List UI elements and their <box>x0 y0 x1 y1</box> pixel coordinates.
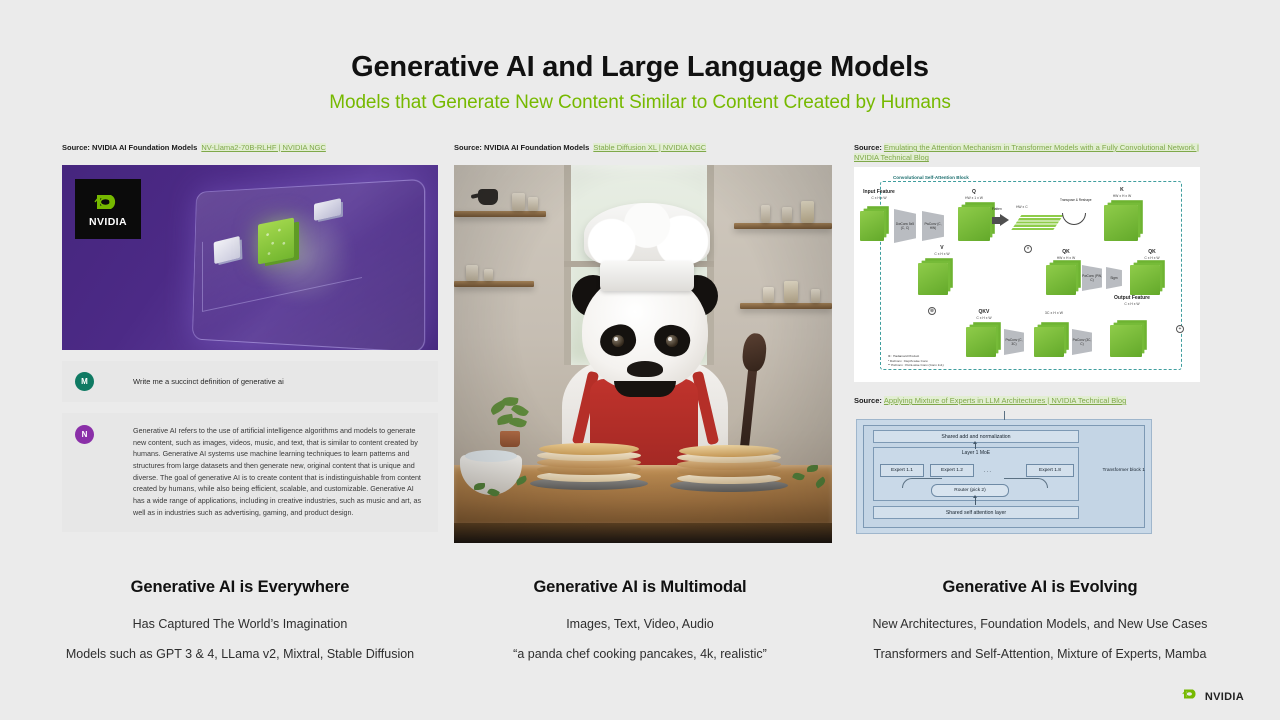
plant-leaf <box>509 415 527 429</box>
tensor-q <box>958 207 990 241</box>
node-label-input-feature: Input Feature C x H x W <box>854 189 906 201</box>
flatten-arrow-tail <box>992 217 1000 224</box>
jar-2 <box>528 197 538 211</box>
diagram-legend: ⊗ : Hadamard Product * DwConv : Depth-wi… <box>888 354 944 368</box>
jar-7 <box>761 205 770 223</box>
arrow-attention-to-moe <box>975 498 976 505</box>
caption-line-1: Images, Text, Video, Audio <box>440 617 840 631</box>
tensor-input <box>860 211 884 241</box>
router-node: Router (pick 2) <box>931 484 1009 497</box>
hero-model-cube-icon <box>258 218 294 265</box>
potted-plant <box>488 397 534 441</box>
caption-title: Generative AI is Evolving <box>840 578 1240 597</box>
expert-1-2: Expert 1.2 <box>930 464 974 477</box>
chef-hat-band <box>600 261 694 291</box>
router-link-left <box>902 478 942 488</box>
source-link[interactable]: NV-Llama2-70B-RLHF | NVIDIA NGC <box>201 143 325 152</box>
annotation-flatten: Flatten <box>992 207 1002 211</box>
jar-9 <box>763 287 774 303</box>
source-link[interactable]: Applying Mixture of Experts in LLM Archi… <box>884 396 1126 405</box>
pancake-stack-right <box>670 445 790 491</box>
router-link-right <box>1004 478 1048 488</box>
tensor-k <box>1104 205 1138 241</box>
source-attribution-1: Source: NVIDIA AI Foundation Models NV-L… <box>62 143 434 161</box>
legend-item: ** PwConv : Point-wise Conv (Conv 1x1) <box>888 363 944 368</box>
tensor-output <box>1110 325 1142 357</box>
nvidia-playground-hero-image: NVIDIA <box>62 165 438 350</box>
mixture-of-experts-diagram: Shared add and normalization Layer 1 MoE… <box>856 419 1152 534</box>
slide-header: Generative AI and Large Language Models … <box>0 0 1280 114</box>
caption-line-1: New Architectures, Foundation Models, an… <box>840 617 1240 631</box>
node-label-3c: 3C x H x W <box>1032 311 1076 315</box>
moe-layer-box: Layer 1 MoE Expert 1.1 Expert 1.2 . . . … <box>873 447 1079 501</box>
op-pwconv-2: PwConv (PW, C) <box>1082 265 1102 291</box>
tensor-v <box>918 263 948 295</box>
expert-1-8: Expert 1.8 <box>1026 464 1074 477</box>
source-attribution-4: Source:Applying Mixture of Experts in LL… <box>854 396 1218 414</box>
attention-mechanism-diagram: Convolutional Self-Attention Block Input… <box>854 167 1200 382</box>
source-label: Source: <box>854 396 882 405</box>
moe-top-connector <box>1004 411 1005 420</box>
caption-title: Generative AI is Everywhere <box>40 578 440 597</box>
caption-everywhere: Generative AI is Everywhere Has Captured… <box>40 578 440 661</box>
column-multimodal: Source: NVIDIA AI Foundation Models Stab… <box>444 143 836 543</box>
annotation-transpose: Transpose & Reshape <box>1060 199 1092 203</box>
panda-nose <box>627 361 663 377</box>
source-label: Source: NVIDIA AI Foundation Models <box>62 143 197 152</box>
node-label-qkv: QKV C x H x W <box>962 309 1006 321</box>
source-attribution-3: Source:Emulating the Attention Mechanism… <box>854 143 1218 163</box>
caption-line-2: Transformers and Self-Attention, Mixture… <box>840 647 1240 661</box>
pancake-stack-left <box>530 441 650 489</box>
chat-answer-text: Generative AI refers to the use of artif… <box>105 425 425 518</box>
footer-nvidia-logo: NVIDIA <box>1181 687 1244 706</box>
avatar-user: M <box>75 372 94 391</box>
op-pwconv-4: PwConv (3C, C) <box>1072 329 1092 355</box>
chef-hat <box>584 203 710 267</box>
tensor-qk-1 <box>1046 265 1076 295</box>
flatten-arrow <box>1000 214 1009 226</box>
node-label-k: K HW x H x W <box>1100 187 1144 199</box>
op-dwconv: DwConv 5x5 (C, C) <box>894 209 916 243</box>
chat-prompt-text: Write me a succinct definition of genera… <box>105 378 284 386</box>
caption-evolving: Generative AI is Evolving New Architectu… <box>840 578 1240 661</box>
op-pwconv-1: PwConv (C, HW) <box>922 211 944 241</box>
tensor-qk-2 <box>1130 265 1160 295</box>
expert-1-1: Expert 1.1 <box>880 464 924 477</box>
flower-pot <box>500 431 520 447</box>
panda-eye-right <box>666 335 678 347</box>
moe-layer-label: Layer 1 MoE <box>874 450 1078 456</box>
caption-line-2: “a panda chef cooking pancakes, 4k, real… <box>440 647 840 661</box>
caption-multimodal: Generative AI is Multimodal Images, Text… <box>440 578 840 661</box>
nvidia-wordmark: NVIDIA <box>89 216 127 228</box>
node-label-q: Q HW x 1 x W <box>952 189 996 201</box>
source-attribution-2: Source: NVIDIA AI Foundation Models Stab… <box>454 143 826 161</box>
node-label-qk-1: QK HW x H x W <box>1044 249 1088 261</box>
op-pwconv-3: PwConv (C, 3C) <box>1004 329 1024 355</box>
column-everywhere: Source: NVIDIA AI Foundation Models NV-L… <box>52 143 444 543</box>
source-link[interactable]: Emulating the Attention Mechanism in Tra… <box>854 143 1199 162</box>
jar-10 <box>811 289 820 303</box>
source-label: Source: NVIDIA AI Foundation Models <box>454 143 589 152</box>
plant-leaf <box>511 402 529 419</box>
panda-eye-left <box>612 335 624 347</box>
source-label: Source: <box>854 143 882 152</box>
transformer-block-label: Transformer block 1 <box>1102 468 1144 473</box>
jar-5 <box>801 201 814 223</box>
panda-chef-generated-image <box>454 165 832 543</box>
tensor-qkv <box>966 327 996 357</box>
caption-title: Generative AI is Multimodal <box>440 578 840 597</box>
tensor-3c <box>1034 327 1064 357</box>
counter-shadow <box>454 523 832 543</box>
add-operator: + <box>1176 325 1184 333</box>
chat-answer-row: N Generative AI refers to the use of art… <box>62 413 438 532</box>
shared-self-attention-bar: Shared self attention layer <box>873 506 1079 519</box>
node-label-flatten-shape: HW x C <box>1016 205 1028 209</box>
node-label-qk-2: QK C x H x W <box>1130 249 1174 261</box>
nvidia-eye-icon <box>93 191 123 213</box>
source-link[interactable]: Stable Diffusion XL | NVIDIA NGC <box>593 143 706 152</box>
panda-muzzle-shadow <box>614 381 676 397</box>
nvidia-eye-icon <box>1181 687 1201 706</box>
nvidia-logo-badge: NVIDIA <box>75 179 141 239</box>
avatar-assistant: N <box>75 425 94 444</box>
kettle-icon <box>478 189 498 205</box>
caption-line-2: Models such as GPT 3 & 4, LLama v2, Mixt… <box>40 647 440 661</box>
shelf-right-upper <box>734 223 832 229</box>
column-evolving: Source:Emulating the Attention Mechanism… <box>836 143 1228 543</box>
jar-3 <box>466 265 478 281</box>
diagram-title: Convolutional Self-Attention Block <box>890 175 972 180</box>
jar-1 <box>512 193 525 211</box>
shelf-left-lower <box>454 281 534 287</box>
shelf-right-lower <box>740 303 832 309</box>
chat-prompt-row: M Write me a succinct definition of gene… <box>62 361 438 402</box>
pancake-top <box>539 443 639 455</box>
jar-8 <box>784 281 798 303</box>
shelf-left-upper <box>454 211 546 217</box>
captions-row: Generative AI is Everywhere Has Captured… <box>0 578 1280 661</box>
experts-ellipsis: . . . <box>984 468 991 474</box>
nvidia-wordmark: NVIDIA <box>1205 691 1244 703</box>
jar-6 <box>782 207 792 223</box>
caption-line-1: Has Captured The World’s Imagination <box>40 617 440 631</box>
pancake-top <box>679 445 779 457</box>
page-title: Generative AI and Large Language Models <box>0 0 1280 84</box>
node-label-v: V C x H x W <box>920 245 964 257</box>
jar-4 <box>484 269 493 281</box>
op-sigmoid: Sigm <box>1106 267 1122 289</box>
arrow-moe-to-norm <box>975 444 976 449</box>
node-label-output-feature: Output Feature C x H x W <box>1102 295 1162 307</box>
content-columns: Source: NVIDIA AI Foundation Models NV-L… <box>0 143 1280 543</box>
matmul-operator-1: × <box>1024 245 1032 253</box>
page-subtitle: Models that Generate New Content Similar… <box>0 92 1280 114</box>
hadamard-operator: ⊗ <box>928 307 936 315</box>
